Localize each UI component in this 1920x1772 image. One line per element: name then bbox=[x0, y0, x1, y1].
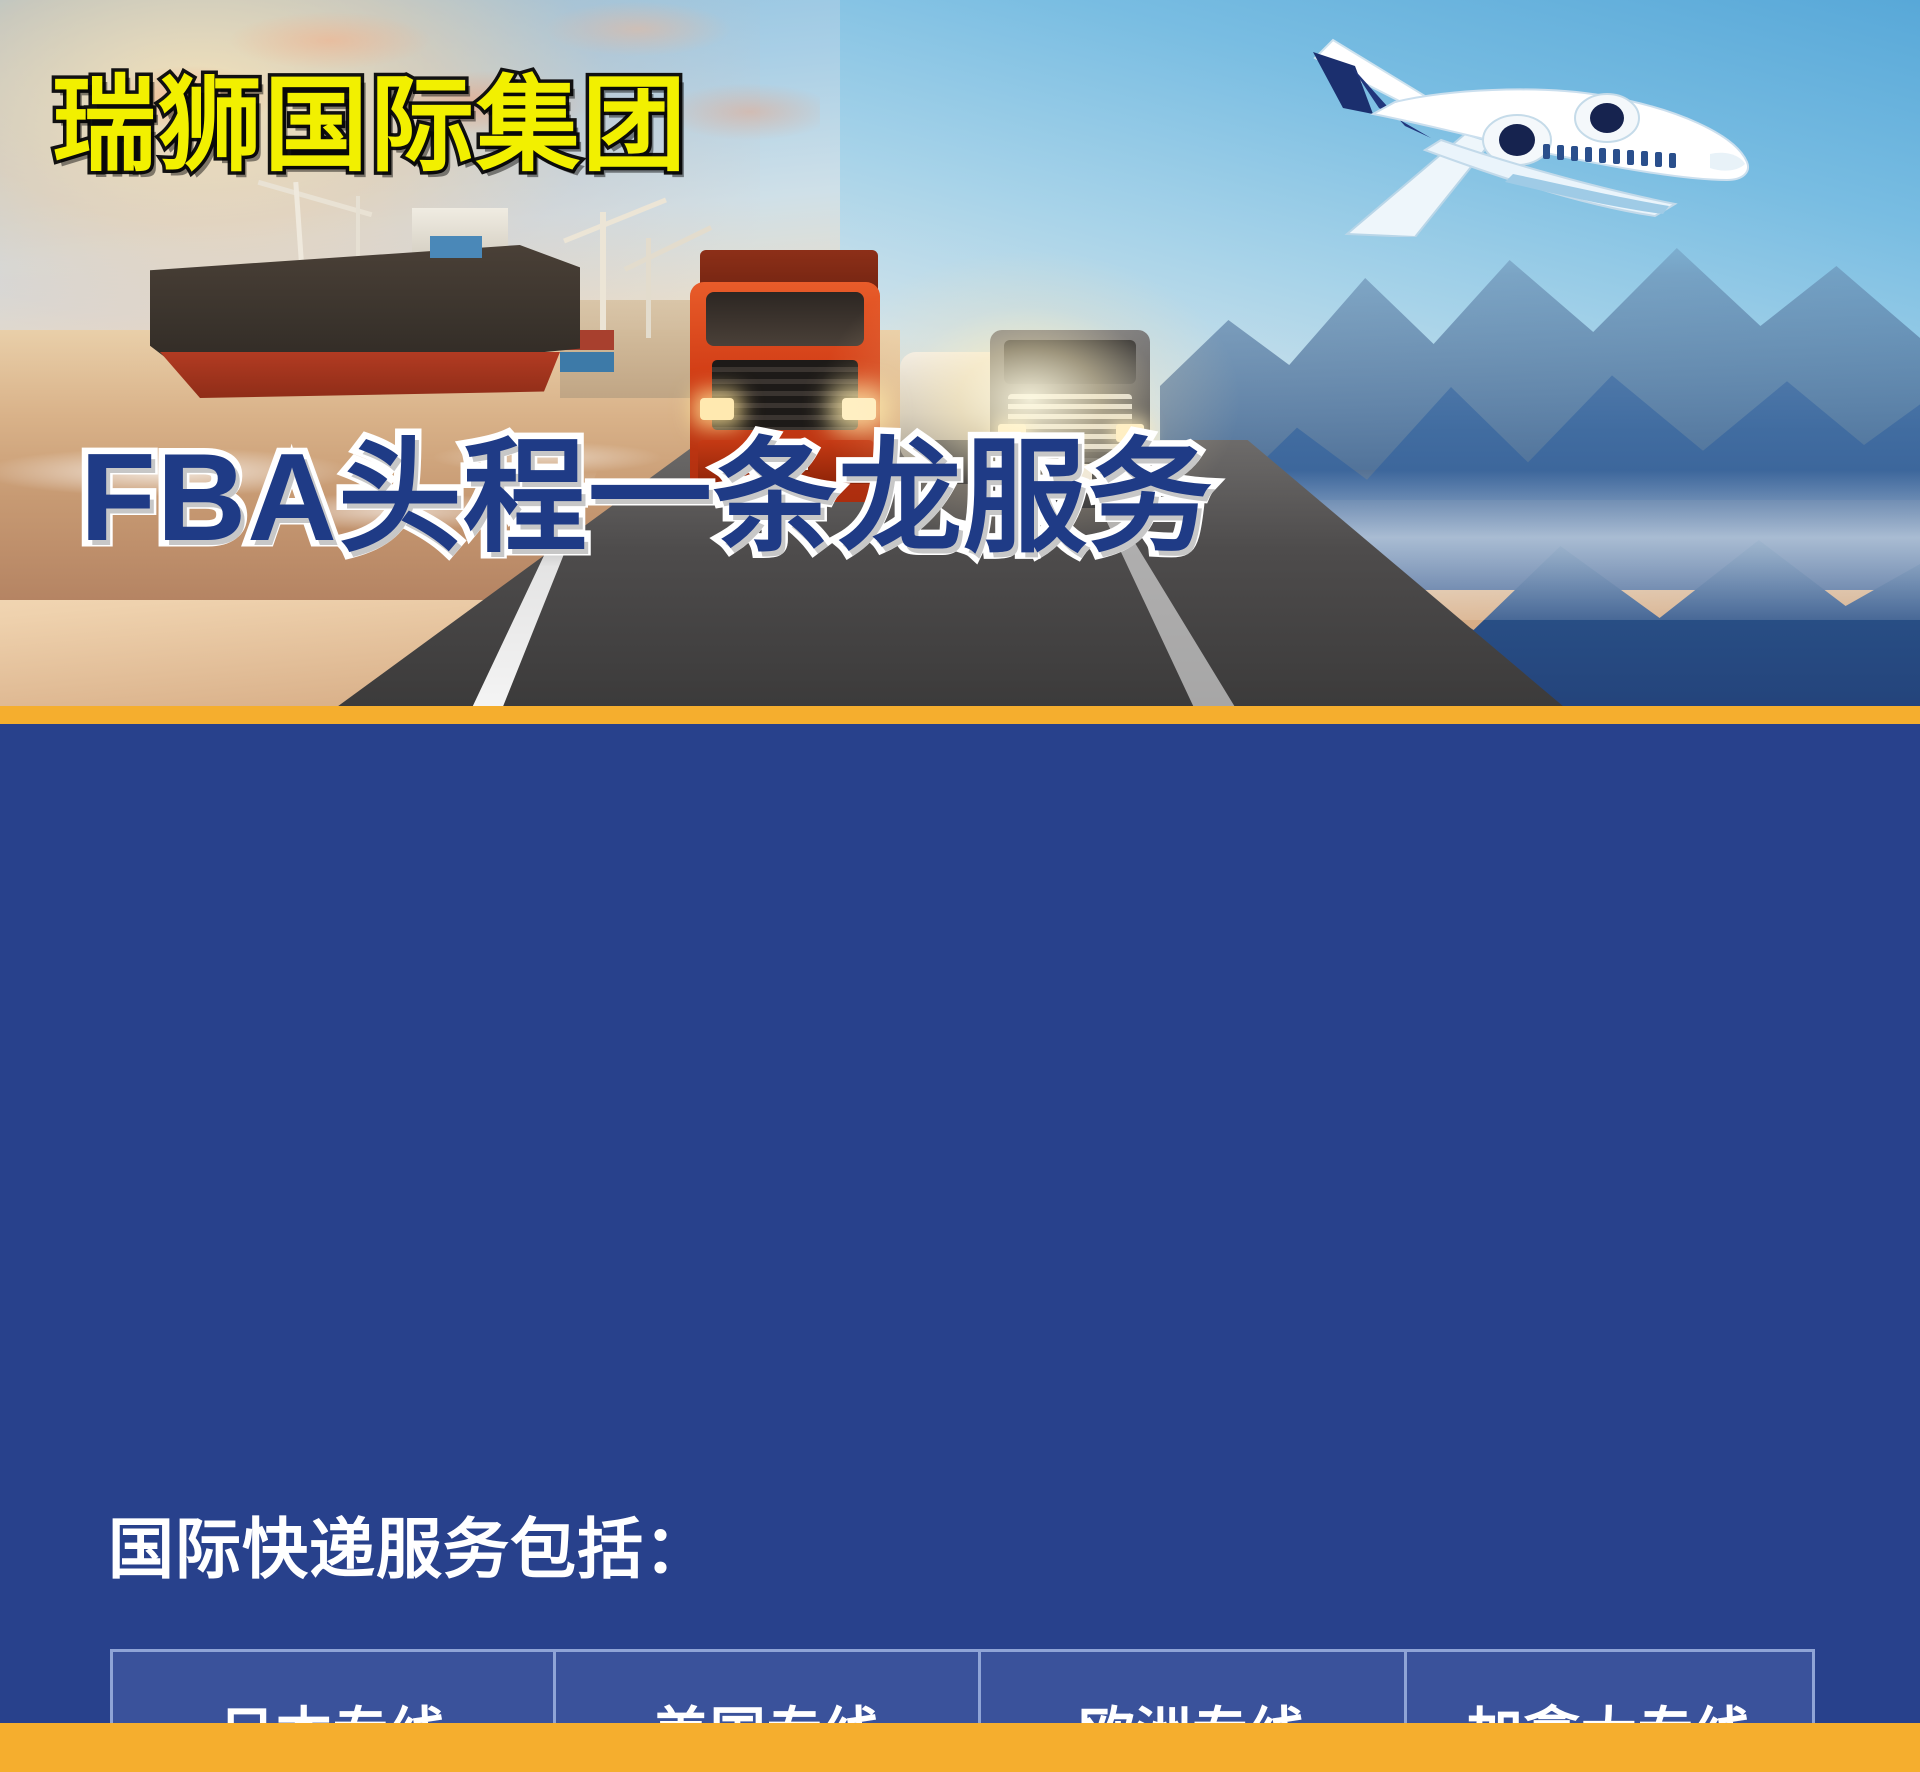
gold-divider-bar bbox=[0, 706, 1920, 724]
shipping-container-icon bbox=[430, 236, 482, 258]
info-panel: 国际快递服务包括： 日本专线 美国专线 欧洲专线 加拿大专线 澳洲专线 东南亚专… bbox=[0, 724, 1920, 1723]
bottom-gold-bar bbox=[0, 1723, 1920, 1772]
airplane-icon bbox=[1255, 22, 1755, 237]
ship-mast bbox=[356, 196, 360, 260]
port-crane-icon bbox=[646, 238, 651, 338]
port-crane-icon bbox=[600, 212, 606, 334]
shipping-container-icon bbox=[560, 352, 614, 372]
red-truck-headlight bbox=[700, 398, 734, 420]
hero-photo: 瑞狮国际集团 FBA头程一条龙服务 bbox=[0, 0, 1920, 712]
hero-headline: FBA头程一条龙服务 bbox=[80, 436, 1213, 560]
panel-title: 国际快递服务包括： bbox=[108, 1516, 711, 1582]
logistics-banner: 瑞狮国际集团 FBA头程一条龙服务 国际快递服务包括： 日本专线 美国专线 欧洲… bbox=[0, 0, 1920, 1772]
company-logo-text: 瑞狮国际集团 bbox=[52, 74, 688, 178]
ship-hull-boottop bbox=[160, 352, 560, 398]
